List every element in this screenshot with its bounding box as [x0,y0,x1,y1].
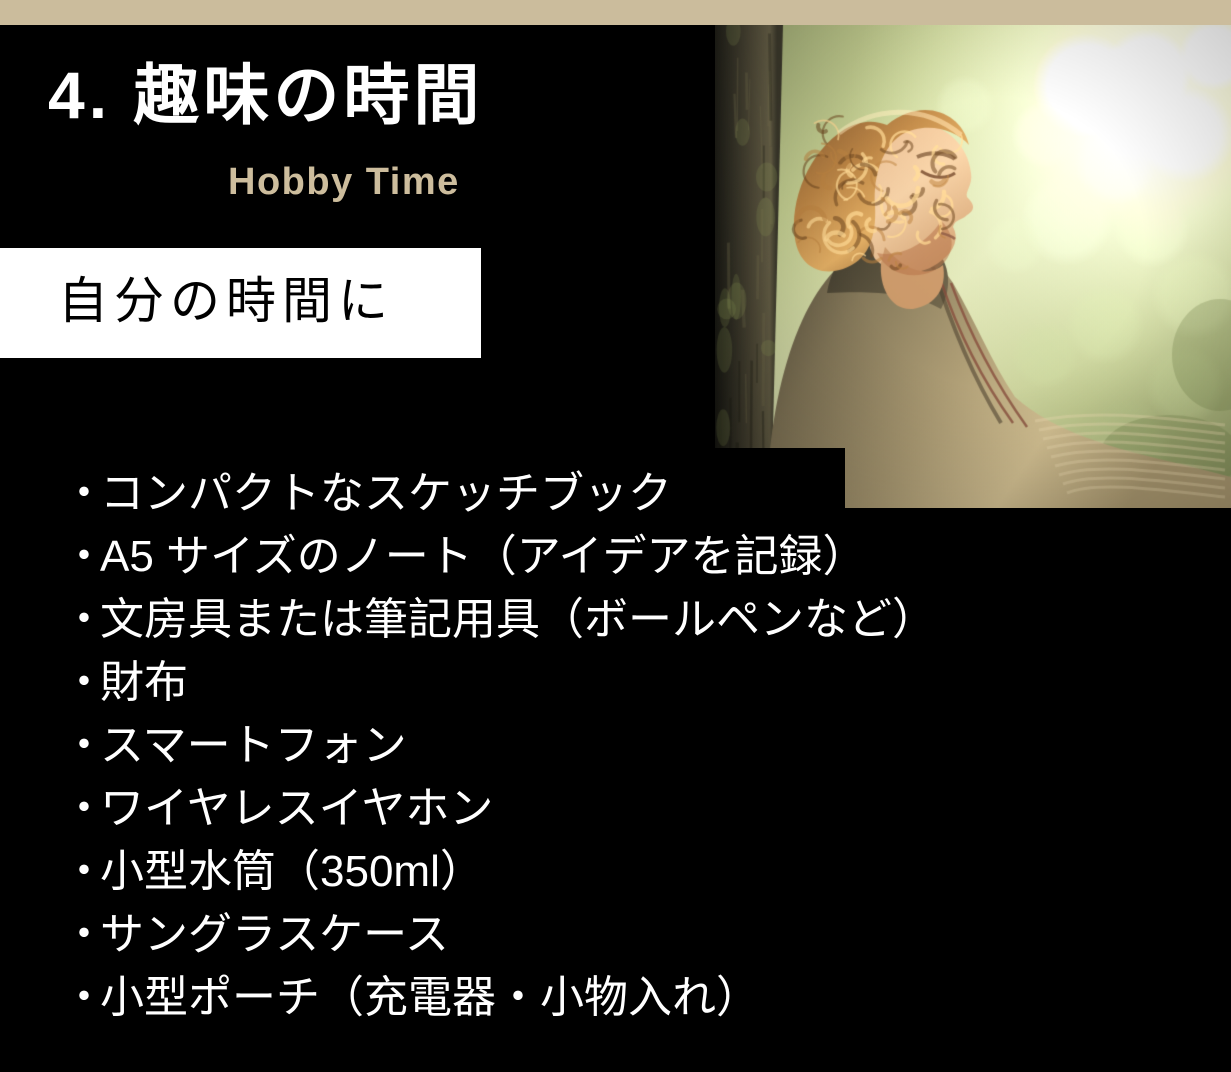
list-item: ・小型水筒（350ml） [62,840,1182,903]
highlight-banner-label: 自分の時間に [58,276,394,326]
list-item: ・ワイヤレスイヤホン [62,777,1182,840]
bullet-point-icon: ・ [62,840,100,903]
list-item-label: コンパクトなスケッチブック [100,462,672,525]
page-title: 4. 趣味の時間 [48,62,483,128]
bullet-point-icon: ・ [62,966,100,1029]
hero-photo [715,25,1231,509]
bullet-point-icon: ・ [62,588,100,651]
list-item-label: 文房具または筆記用具（ボールペンなど） [100,588,936,651]
list-item-label: 小型ポーチ（充電器・小物入れ） [100,966,760,1029]
bullet-point-icon: ・ [62,651,100,714]
list-item-label: サングラスケース [100,903,449,966]
bullet-point-icon: ・ [62,462,100,525]
list-item: ・財布 [62,651,1182,714]
list-item: ・文房具または筆記用具（ボールペンなど） [62,588,1182,651]
list-item: ・スマートフォン [62,714,1182,777]
list-item-label: ワイヤレスイヤホン [100,777,493,840]
top-accent-bar [0,0,1231,25]
list-item-label: A5 サイズのノート（アイデアを記録） [100,525,867,588]
list-item-label: スマートフォン [100,714,407,777]
bullet-point-icon: ・ [62,903,100,966]
list-item: ・サングラスケース [62,903,1182,966]
bullet-point-icon: ・ [62,777,100,840]
list-item-label: 小型水筒（350ml） [100,840,484,903]
bullet-point-icon: ・ [62,714,100,777]
list-item: ・小型ポーチ（充電器・小物入れ） [62,966,1182,1029]
bullet-point-icon: ・ [62,525,100,588]
page-subtitle: Hobby Time [228,163,460,201]
list-item: ・コンパクトなスケッチブック [62,462,1182,525]
list-item-label: 財布 [100,651,188,714]
list-item: ・A5 サイズのノート（アイデアを記録） [62,525,1182,588]
slide-canvas: 4. 趣味の時間 Hobby Time 自分の時間に ・コンパクトなスケッチブッ… [0,0,1231,1072]
packing-list: ・コンパクトなスケッチブック・A5 サイズのノート（アイデアを記録）・文房具また… [62,462,1182,1029]
hero-photo-image [715,25,1231,509]
